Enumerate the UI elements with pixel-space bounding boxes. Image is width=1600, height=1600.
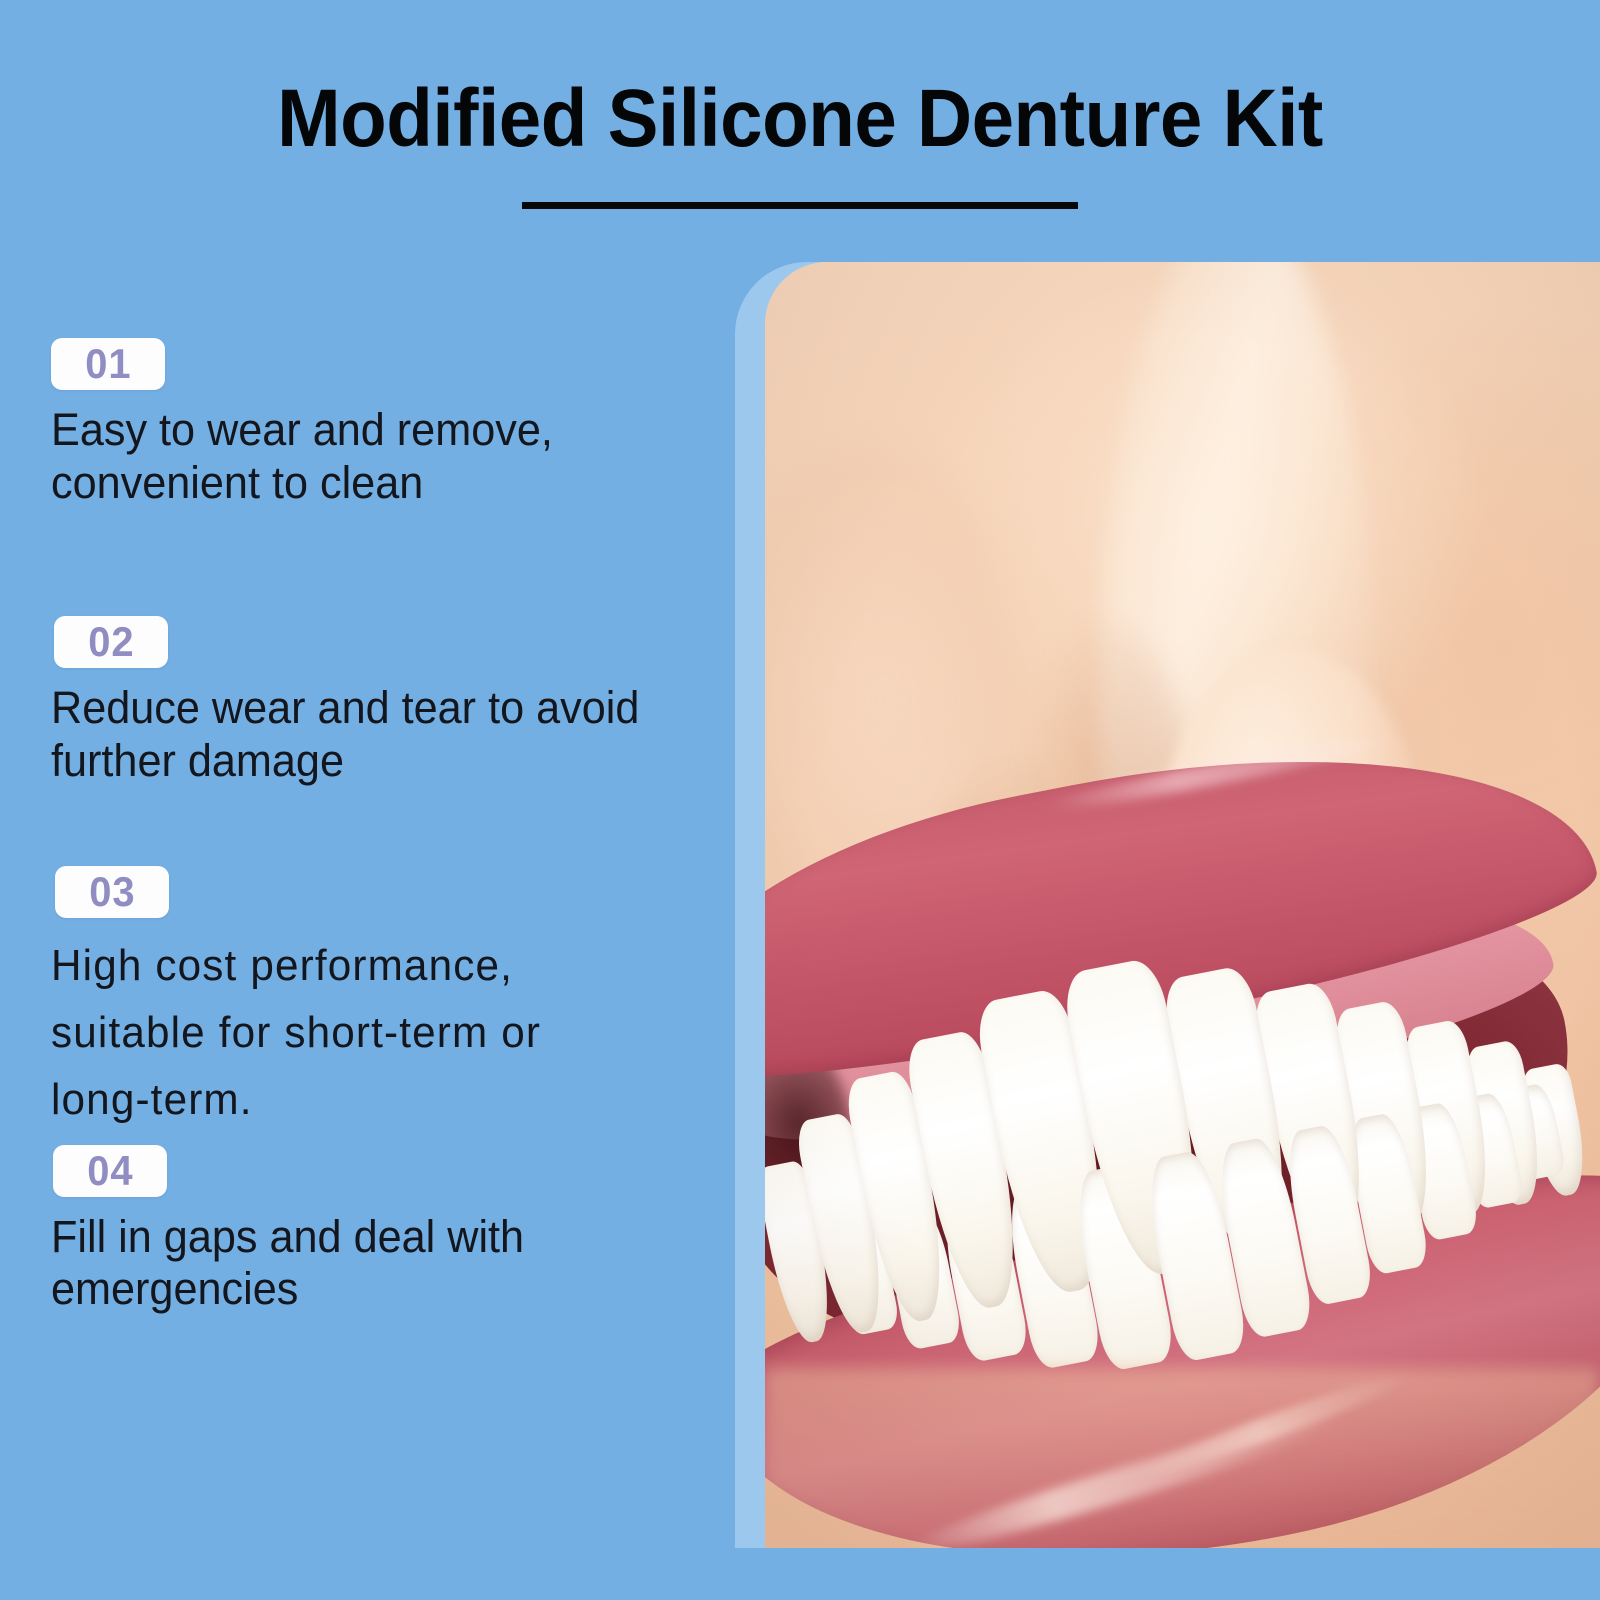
- title-underline-rule: [522, 202, 1078, 209]
- feature-badge-04: 04: [53, 1145, 167, 1197]
- feature-text-03: High cost performance, suitable for shor…: [51, 932, 685, 1134]
- feature-number-04: 04: [87, 1145, 133, 1197]
- feature-text-01: Easy to wear and remove, convenient to c…: [51, 404, 685, 509]
- feature-number-03: 03: [89, 866, 135, 918]
- header: Modified Silicone Denture Kit: [0, 78, 1600, 209]
- feature-number-02: 02: [88, 616, 134, 668]
- feature-item-04: 04 Fill in gaps and deal with emergencie…: [51, 1145, 711, 1316]
- feature-number-01: 01: [85, 338, 131, 390]
- feature-badge-03: 03: [55, 866, 169, 918]
- chin-shading: [765, 1368, 1600, 1548]
- feature-list: 01 Easy to wear and remove, convenient t…: [51, 338, 711, 1316]
- feature-item-01: 01 Easy to wear and remove, convenient t…: [51, 338, 711, 509]
- feature-item-03: 03 High cost performance, suitable for s…: [51, 866, 711, 1134]
- feature-badge-02: 02: [54, 616, 168, 668]
- feature-badge-01: 01: [51, 338, 165, 390]
- smile-photo-illustration: [765, 262, 1600, 1548]
- feature-text-02: Reduce wear and tear to avoid further da…: [51, 682, 685, 787]
- feature-text-04: Fill in gaps and deal with emergencies: [51, 1211, 685, 1316]
- feature-item-02: 02 Reduce wear and tear to avoid further…: [51, 616, 711, 787]
- infographic-page: Modified Silicone Denture Kit 01 Easy to…: [0, 0, 1600, 1600]
- page-title: Modified Silicone Denture Kit: [56, 78, 1544, 160]
- product-photo: [765, 262, 1600, 1548]
